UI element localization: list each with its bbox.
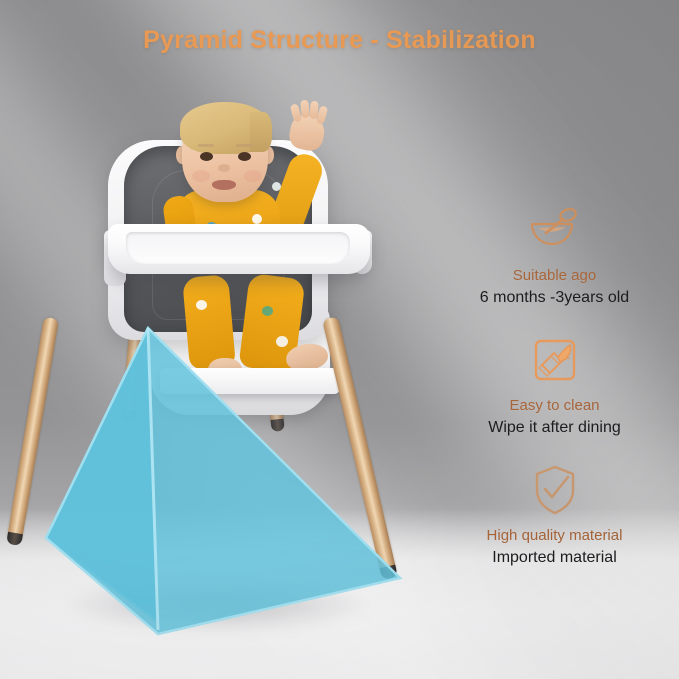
feature-subtitle: Imported material [430, 547, 679, 569]
product-marketing-image: Pyramid Structure - Stabilization [0, 0, 679, 679]
feature-title: High quality material [430, 526, 679, 546]
feature-item-suitable-age: Suitable ago 6 months -3years old [430, 200, 679, 309]
feature-title: Easy to clean [430, 396, 679, 416]
feature-subtitle: 6 months -3years old [430, 287, 679, 309]
pyramid-stability-overlay [0, 0, 440, 679]
feature-list: Suitable ago 6 months -3years old Easy t… [430, 0, 679, 679]
feature-item-high-quality: High quality material Imported material [430, 460, 679, 569]
bowl-spoon-icon [430, 200, 679, 260]
product-photo [0, 0, 440, 679]
shield-check-icon [430, 460, 679, 520]
wipe-clean-icon [430, 330, 679, 390]
feature-item-easy-to-clean: Easy to clean Wipe it after dining [430, 330, 679, 439]
feature-subtitle: Wipe it after dining [430, 417, 679, 439]
pyramid-face-base [46, 328, 400, 634]
feature-title: Suitable ago [430, 266, 679, 286]
